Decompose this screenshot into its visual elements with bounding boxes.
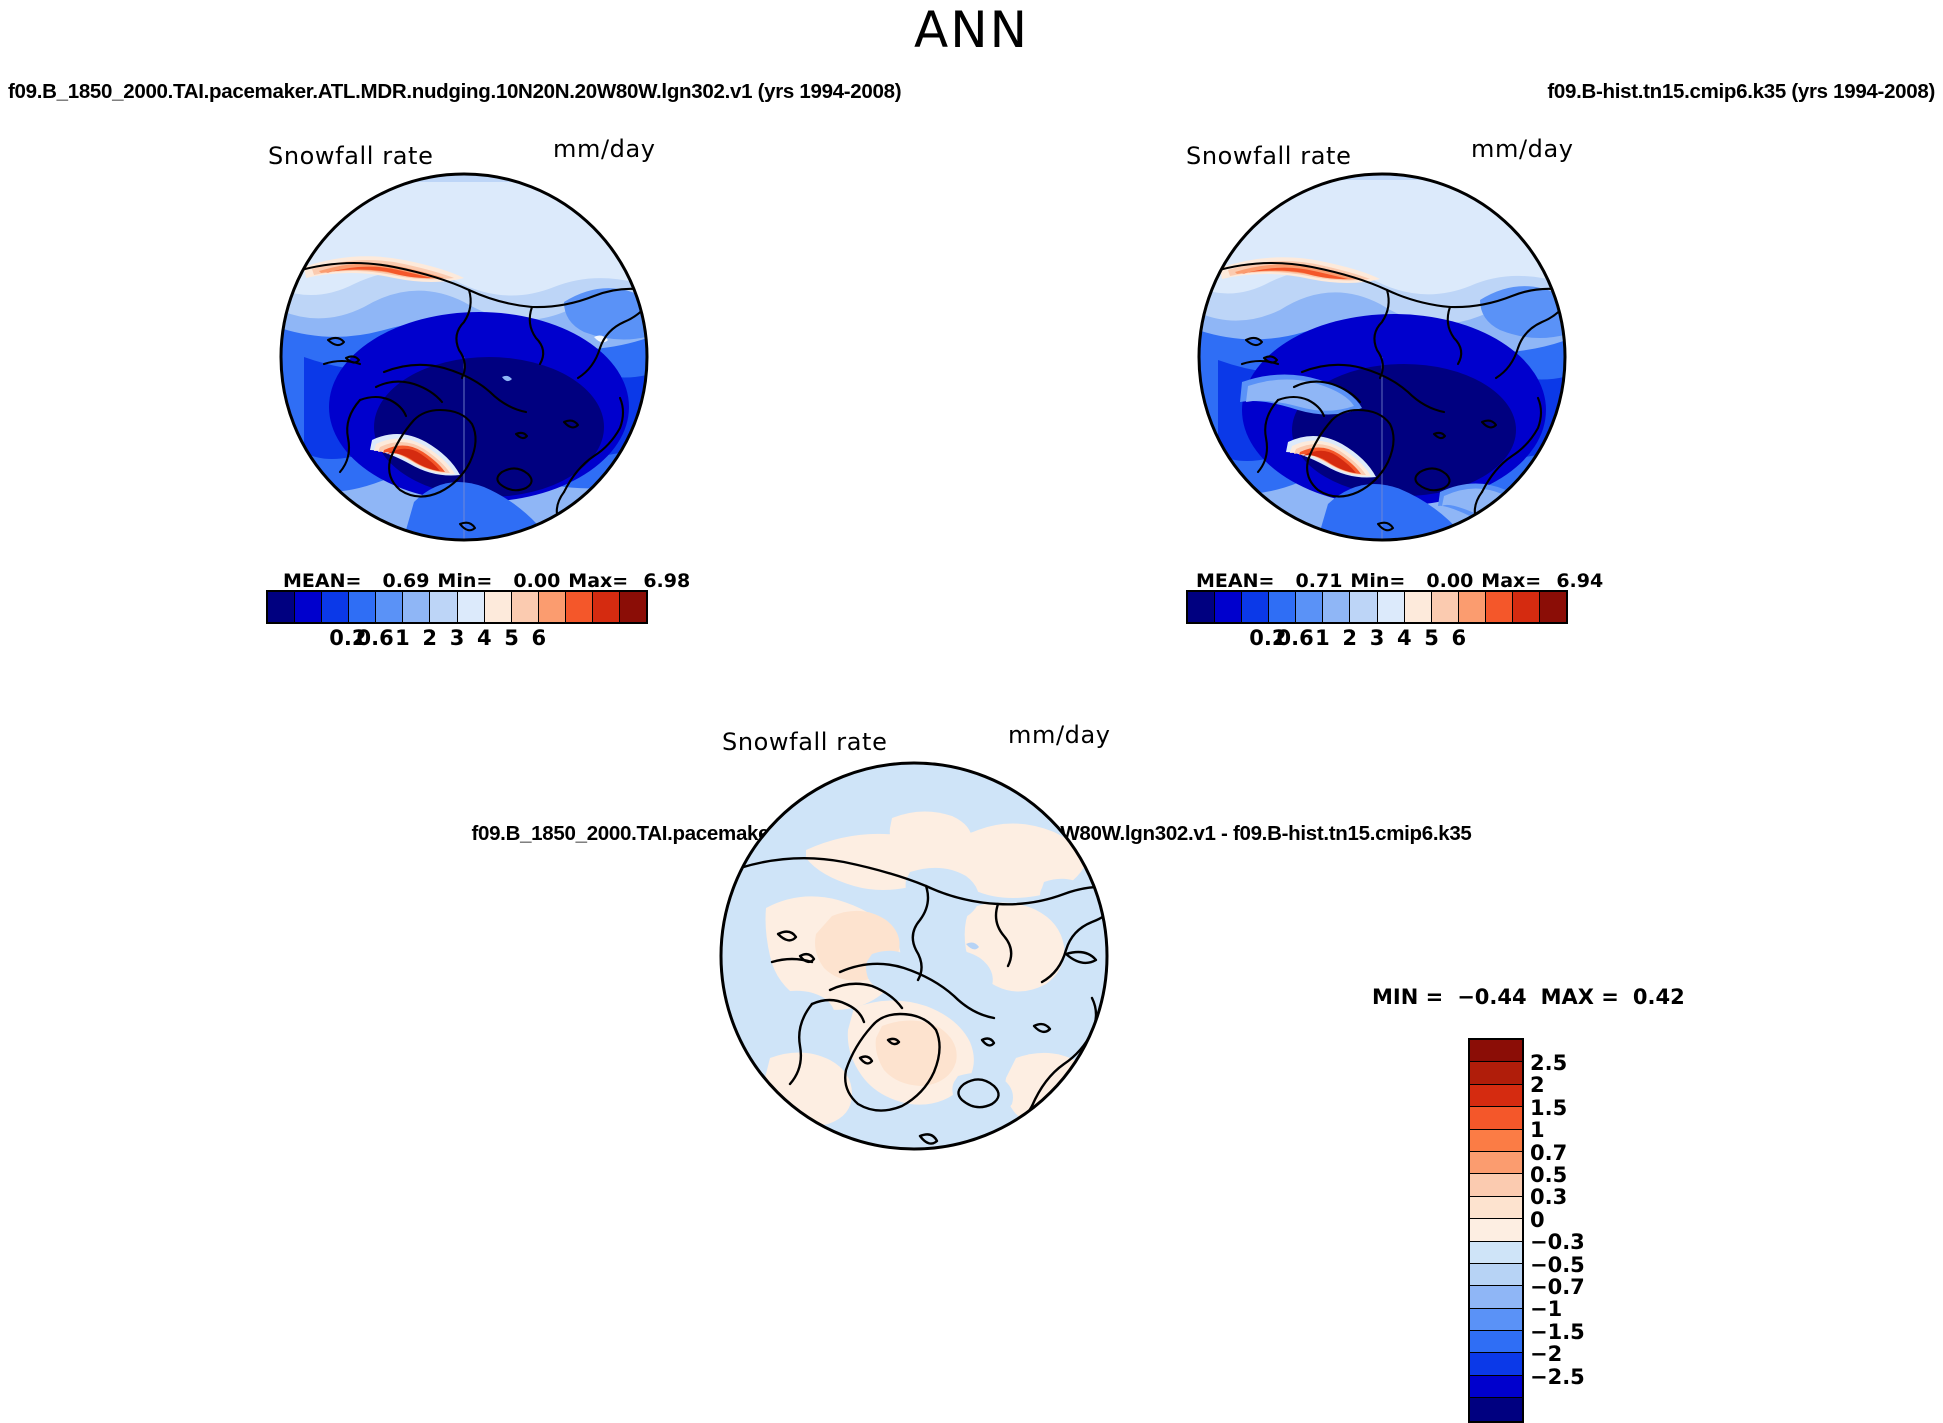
panel-difference-units-label: mm/day: [1008, 721, 1111, 749]
colorbar-tick-label: 1: [1315, 626, 1330, 650]
colorbar-swatch: [1470, 1174, 1522, 1196]
panel-left-units-label: mm/day: [553, 135, 656, 163]
colorbar-tick-label: 1: [1530, 1118, 1545, 1142]
panel-difference-variable-label: Snowfall rate: [722, 728, 887, 756]
colorbar-swatch: [1405, 592, 1432, 622]
colorbar-tick-label: 4: [477, 626, 492, 650]
colorbar-tick-label: −2: [1530, 1342, 1562, 1366]
panel-difference-max-label: MAX =: [1541, 985, 1619, 1009]
panel-right-min-value: 0.00: [1405, 570, 1473, 592]
colorbar-swatch: [620, 592, 646, 622]
colorbar-tick-label: 6: [1452, 626, 1467, 650]
colorbar-tick-label: 2: [1342, 626, 1357, 650]
colorbar-swatch: [1470, 1331, 1522, 1353]
colorbar-tick-label: 3: [1370, 626, 1385, 650]
colorbar-swatch: [1470, 1085, 1522, 1107]
colorbar-tick-label: 5: [1424, 626, 1439, 650]
colorbar-tick-label: −2.5: [1530, 1365, 1585, 1389]
colorbar-swatch: [349, 592, 376, 622]
panel-right-max-label: Max=: [1481, 570, 1541, 592]
colorbar-swatch: [1470, 1264, 1522, 1286]
colorbar-swatch: [295, 592, 322, 622]
colorbar-right-swatches: [1186, 590, 1568, 624]
colorbar-tick-label: −1.5: [1530, 1320, 1585, 1344]
panel-right-mean-label: MEAN=: [1196, 570, 1274, 592]
colorbar-swatch: [1215, 592, 1242, 622]
panel-right-units-label: mm/day: [1471, 135, 1574, 163]
panel-left-stats: MEAN= 0.69 Min= 0.00 Max= 6.98: [283, 570, 690, 592]
colorbar-tick-label: −0.7: [1530, 1275, 1585, 1299]
colorbar-swatch: [1540, 592, 1566, 622]
panel-left-mean-label: MEAN=: [283, 570, 361, 592]
panel-left-max-label: Max=: [568, 570, 628, 592]
panel-right-min-label: Min=: [1350, 570, 1405, 592]
colorbar-swatch: [268, 592, 295, 622]
colorbar-tick-label: 6: [532, 626, 547, 650]
map-right: [1182, 172, 1582, 542]
colorbar-swatch: [1242, 592, 1269, 622]
colorbar-swatch: [1470, 1242, 1522, 1264]
colorbar-tick-label: −1: [1530, 1297, 1562, 1321]
panel-difference-min-value: −0.44: [1457, 985, 1526, 1009]
colorbar-swatch: [1470, 1197, 1522, 1219]
colorbar-swatch: [1296, 592, 1323, 622]
colorbar-swatch: [1470, 1040, 1522, 1062]
colorbar-swatch: [1470, 1286, 1522, 1308]
colorbar-swatch: [1470, 1152, 1522, 1174]
panel-left-min-value: 0.00: [492, 570, 560, 592]
colorbar-swatch: [1459, 592, 1486, 622]
case-title-right: f09.B-hist.tn15.cmip6.k35 (yrs 1994-2008…: [1547, 80, 1935, 104]
colorbar-swatch: [1513, 592, 1540, 622]
colorbar-tick-label: −0.5: [1530, 1253, 1585, 1277]
map-left: [264, 172, 664, 542]
colorbar-swatch: [1470, 1376, 1522, 1398]
colorbar-left-tick-labels: 0.20.6123456: [266, 624, 648, 650]
colorbar-right: 0.20.6123456: [1186, 590, 1568, 650]
panel-left-variable-label: Snowfall rate: [268, 142, 433, 170]
colorbar-tick-label: 1.5: [1530, 1096, 1567, 1120]
colorbar-tick-label: 3: [450, 626, 465, 650]
colorbar-swatch: [458, 592, 485, 622]
panel-difference-max-value: 0.42: [1633, 985, 1685, 1009]
colorbar-left: 0.20.6123456: [266, 590, 648, 650]
colorbar-swatch: [485, 592, 512, 622]
colorbar-tick-label: 0: [1530, 1208, 1545, 1232]
colorbar-tick-label: 0.3: [1530, 1185, 1567, 1209]
colorbar-tick-label: 5: [504, 626, 519, 650]
colorbar-swatch: [430, 592, 457, 622]
colorbar-tick-label: 0.7: [1530, 1141, 1567, 1165]
colorbar-tick-label: 0.6: [357, 626, 394, 650]
panel-difference-stats: MIN =−0.44MAX =0.42: [1372, 985, 1685, 1009]
panel-right-max-value: 6.94: [1541, 570, 1603, 592]
colorbar-swatch: [1269, 592, 1296, 622]
panel-difference-min-label: MIN =: [1372, 985, 1443, 1009]
colorbar-swatch: [1470, 1130, 1522, 1152]
colorbar-difference: 2.521.510.70.50.30−0.3−0.5−0.7−1−1.5−2−2…: [1468, 1038, 1524, 1423]
colorbar-swatch: [1470, 1353, 1522, 1375]
colorbar-swatch: [1470, 1398, 1522, 1420]
colorbar-right-tick-labels: 0.20.6123456: [1186, 624, 1568, 650]
colorbar-swatch: [1188, 592, 1215, 622]
colorbar-swatch: [512, 592, 539, 622]
colorbar-swatch: [1486, 592, 1513, 622]
colorbar-swatch: [593, 592, 620, 622]
panel-right-stats: MEAN= 0.71 Min= 0.00 Max= 6.94: [1196, 570, 1603, 592]
colorbar-tick-label: 0.5: [1530, 1163, 1567, 1187]
panel-right-mean-value: 0.71: [1274, 570, 1342, 592]
panel-right-variable-label: Snowfall rate: [1186, 142, 1351, 170]
colorbar-tick-label: 2: [1530, 1073, 1545, 1097]
colorbar-tick-label: 1: [395, 626, 410, 650]
colorbar-swatch: [1470, 1309, 1522, 1331]
colorbar-swatch: [322, 592, 349, 622]
colorbar-swatch: [1378, 592, 1405, 622]
case-title-left: f09.B_1850_2000.TAI.pacemaker.ATL.MDR.nu…: [8, 80, 901, 104]
colorbar-swatch: [1470, 1219, 1522, 1241]
colorbar-tick-label: −0.3: [1530, 1230, 1585, 1254]
colorbar-swatch: [1323, 592, 1350, 622]
panel-left-min-label: Min=: [437, 570, 492, 592]
colorbar-swatch: [376, 592, 403, 622]
colorbar-swatch: [566, 592, 593, 622]
colorbar-tick-label: 0.6: [1277, 626, 1314, 650]
colorbar-tick-label: 4: [1397, 626, 1412, 650]
panel-difference: Snowfall rate mm/day: [700, 718, 1170, 1408]
colorbar-swatch: [1470, 1107, 1522, 1129]
figure-title: ANN: [0, 2, 1943, 58]
colorbar-tick-label: 2: [422, 626, 437, 650]
panel-left-max-value: 6.98: [628, 570, 690, 592]
colorbar-swatch: [1350, 592, 1377, 622]
panel-left-mean-value: 0.69: [361, 570, 429, 592]
colorbar-swatch: [1432, 592, 1459, 622]
colorbar-tick-label: 2.5: [1530, 1051, 1567, 1075]
colorbar-left-swatches: [266, 590, 648, 624]
colorbar-swatch: [539, 592, 566, 622]
colorbar-swatch: [1470, 1062, 1522, 1084]
map-difference: [714, 758, 1134, 1158]
colorbar-difference-swatches: [1468, 1038, 1524, 1423]
colorbar-swatch: [403, 592, 430, 622]
